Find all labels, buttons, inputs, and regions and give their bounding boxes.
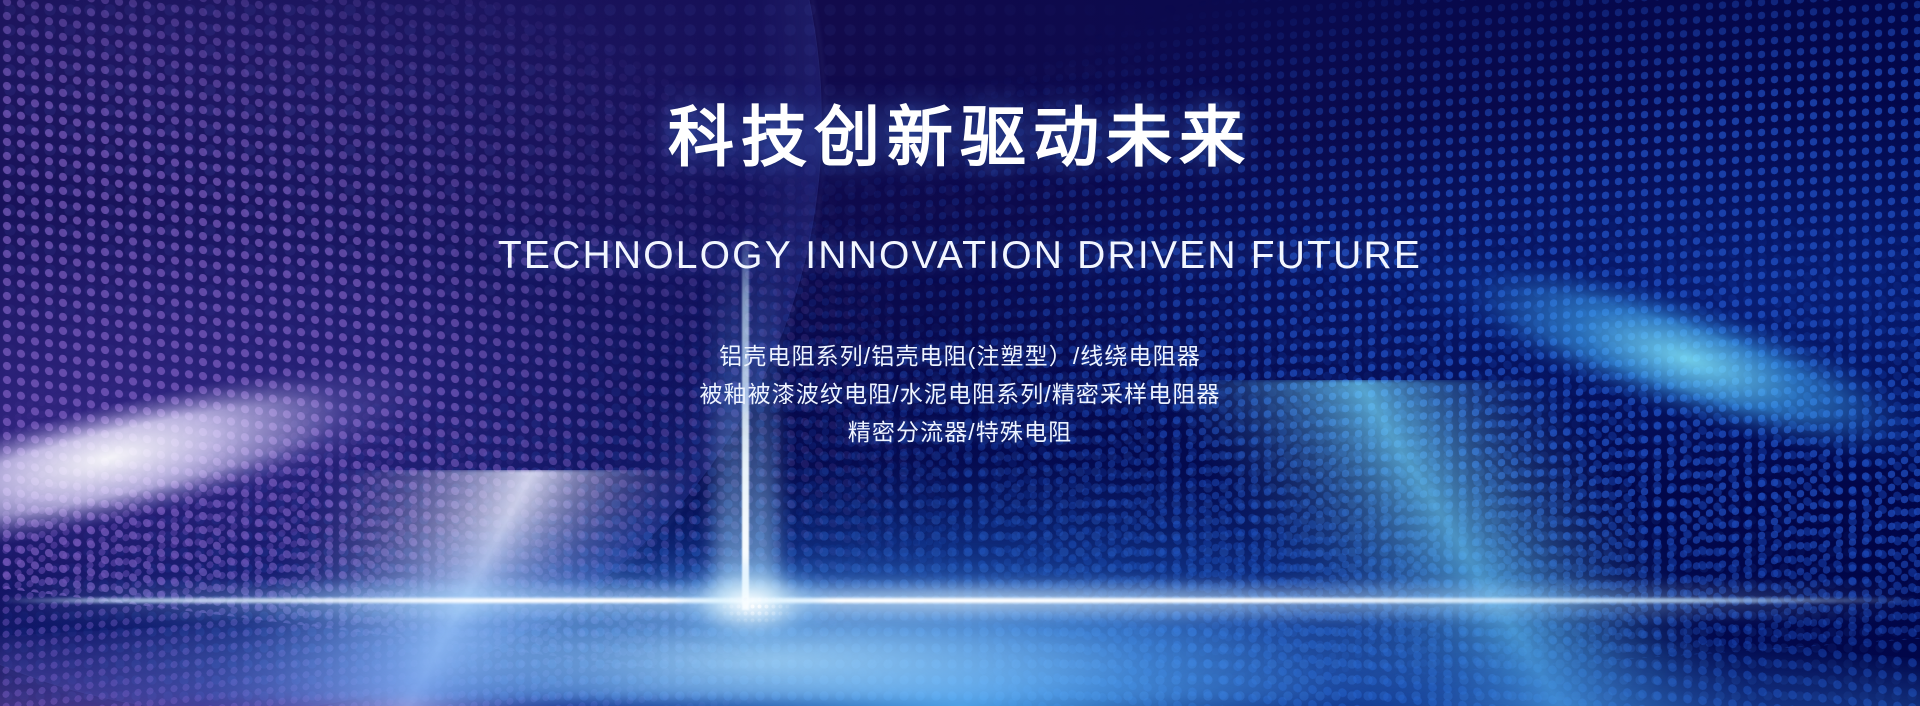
product-category-line: 铝壳电阻系列/铝壳电阻(注塑型）/线绕电阻器	[719, 345, 1201, 368]
banner-headline: 科技创新驱动未来	[668, 104, 1252, 170]
product-category-line: 被釉被漆波纹电阻/水泥电阻系列/精密采样电阻器	[699, 383, 1220, 406]
product-category-line: 精密分流器/特殊电阻	[848, 421, 1072, 444]
hero-banner: 科技创新驱动未来 TECHNOLOGY INNOVATION DRIVEN FU…	[0, 0, 1920, 706]
product-category-list: 铝壳电阻系列/铝壳电阻(注塑型）/线绕电阻器 被釉被漆波纹电阻/水泥电阻系列/精…	[699, 345, 1220, 444]
banner-content: 科技创新驱动未来 TECHNOLOGY INNOVATION DRIVEN FU…	[0, 0, 1920, 706]
banner-subheadline: TECHNOLOGY INNOVATION DRIVEN FUTURE	[498, 236, 1422, 275]
